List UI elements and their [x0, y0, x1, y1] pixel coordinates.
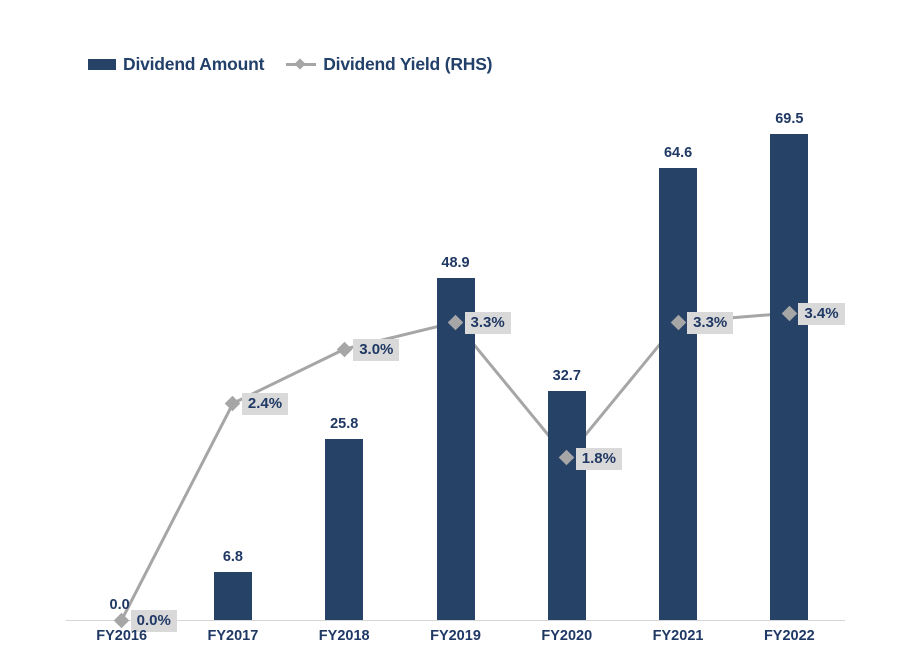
yield-value-label-fy2022: 3.4%	[798, 303, 844, 325]
dividend-chart: Dividend Amount Dividend Yield (RHS) 0.0…	[0, 0, 909, 660]
x-axis-label-fy2016: FY2016	[72, 628, 172, 644]
x-axis-label-fy2018: FY2018	[294, 628, 394, 644]
bar-value-label-fy2022: 69.5	[754, 111, 824, 127]
x-axis-label-fy2021: FY2021	[628, 628, 728, 644]
x-axis-label-fy2019: FY2019	[406, 628, 506, 644]
x-axis-label-fy2020: FY2020	[517, 628, 617, 644]
x-axis-label-fy2022: FY2022	[739, 628, 839, 644]
yield-value-label-fy2019: 3.3%	[465, 312, 511, 334]
yield-value-label-fy2021: 3.3%	[687, 312, 733, 334]
plot-area: 0.06.825.848.932.764.669.5 0.0%2.4%3.0%3…	[0, 0, 909, 660]
x-axis-label-fy2017: FY2017	[183, 628, 283, 644]
bar-value-label-fy2017: 6.8	[198, 549, 268, 565]
bar-value-label-fy2018: 25.8	[309, 416, 379, 432]
bar-fy2020[interactable]	[548, 391, 586, 620]
yield-value-label-fy2018: 3.0%	[353, 339, 399, 361]
bar-fy2021[interactable]	[659, 168, 697, 620]
bar-value-label-fy2021: 64.6	[643, 145, 713, 161]
bar-value-label-fy2019: 48.9	[421, 255, 491, 271]
yield-value-label-fy2020: 1.8%	[576, 448, 622, 470]
yield-value-label-fy2017: 2.4%	[242, 393, 288, 415]
bar-fy2018[interactable]	[325, 439, 363, 620]
bar-value-label-fy2020: 32.7	[532, 368, 602, 384]
bar-fy2022[interactable]	[770, 134, 808, 621]
bar-fy2017[interactable]	[214, 572, 252, 620]
